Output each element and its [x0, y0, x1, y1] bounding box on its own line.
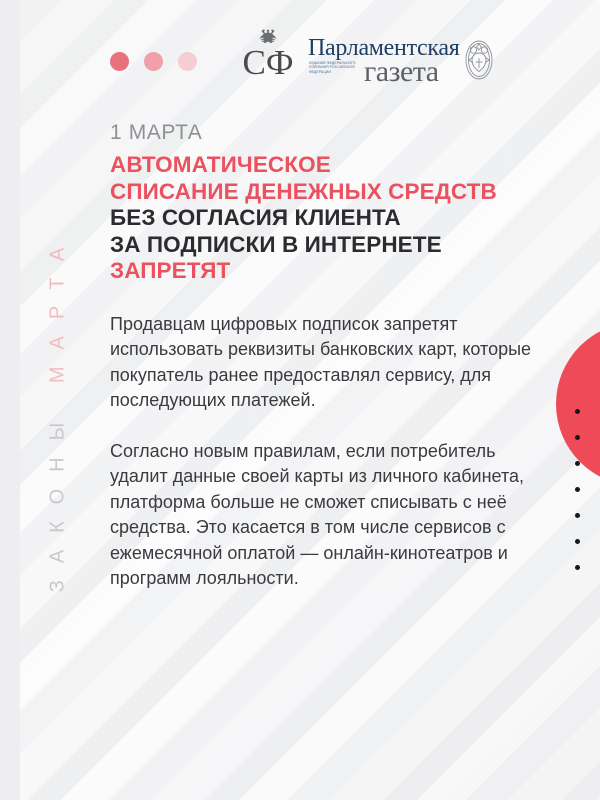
- side-label-accent: МАРТА: [47, 231, 69, 383]
- side-label-muted: ЗАКОНЫ: [47, 406, 69, 593]
- sf-logo-letters: СФ: [243, 43, 294, 82]
- dot-light-icon: [178, 52, 197, 71]
- body-paragraph-1: Продавцам цифровых подписок запретят исп…: [110, 312, 540, 414]
- parliament-gazette-logo: Парламентская ИЗДАНИЕ ФЕДЕРАЛЬНОГО СОБРА…: [308, 36, 496, 86]
- headline-line-3: БЕЗ СОГЛАСИЯ КЛИЕНТА: [110, 205, 540, 232]
- grid-dot: [575, 565, 580, 570]
- pg-word-bottom: газета: [364, 57, 439, 87]
- content-block: 1 МАРТА АВТОМАТИЧЕСКОЕ СПИСАНИЕ ДЕНЕЖНЫХ…: [110, 118, 540, 592]
- grid-dot: [575, 487, 580, 492]
- three-dots-decoration: [110, 52, 197, 71]
- headline-line-1: АВТОМАТИЧЕСКОЕ: [110, 152, 540, 179]
- grid-dot: [575, 513, 580, 518]
- headline-line-2: СПИСАНИЕ ДЕНЕЖНЫХ СРЕДСТВ: [110, 179, 540, 206]
- infographic-card: СФ Парламентская ИЗДАНИЕ ФЕДЕРАЛЬНОГО СО…: [0, 0, 600, 800]
- date-kicker: 1 МАРТА: [110, 118, 540, 148]
- decorative-dot-grid: [564, 398, 600, 580]
- grid-dot: [575, 539, 580, 544]
- headline: АВТОМАТИЧЕСКОЕ СПИСАНИЕ ДЕНЕЖНЫХ СРЕДСТВ…: [110, 152, 540, 285]
- headline-line-4: ЗА ПОДПИСКИ В ИНТЕРНЕТЕ: [110, 232, 540, 259]
- body-copy: Продавцам цифровых подписок запретят исп…: [110, 312, 540, 592]
- grid-dot: [575, 435, 580, 440]
- vertical-section-label: ЗАКОНЫ МАРТА: [47, 152, 70, 672]
- dot-strong-icon: [110, 52, 129, 71]
- header: СФ Парламентская ИЗДАНИЕ ФЕДЕРАЛЬНОГО СО…: [0, 0, 600, 105]
- headline-line-5: ЗАПРЕТЯТ: [110, 258, 540, 285]
- dot-medium-icon: [144, 52, 163, 71]
- body-paragraph-2: Согласно новым правилам, если потребител…: [110, 439, 540, 592]
- russian-coat-of-arms-icon: [462, 38, 496, 82]
- double-headed-eagle-icon: [257, 28, 279, 44]
- federation-council-logo: СФ: [232, 28, 304, 81]
- left-gutter-strip: [0, 0, 20, 800]
- grid-dot: [575, 409, 580, 414]
- grid-dot: [575, 461, 580, 466]
